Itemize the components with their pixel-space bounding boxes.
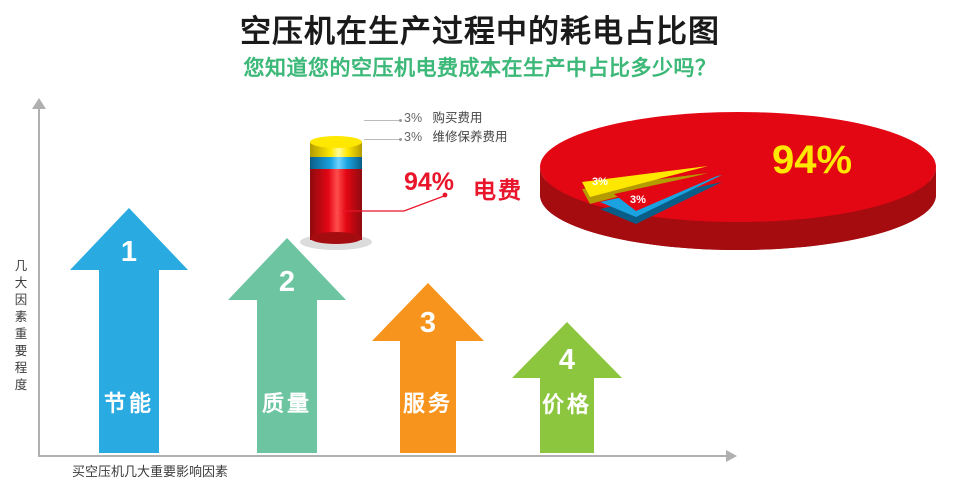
callout-leader-maintenance [364,139,400,140]
page-subtitle: 您知道您的空压机电费成本在生产中占比多少吗？ [0,52,960,82]
bar-arrow-price: 4 价格 [512,322,622,453]
callout-leader-purchase [364,120,400,121]
page-title: 空压机在生产过程中的耗电占比图 [0,6,960,51]
infographic-canvas: 空压机在生产过程中的耗电占比图 您知道您的空压机电费成本在生产中占比多少吗？ 几… [0,0,960,483]
bar-arrow-service: 3 服务 [372,283,484,453]
x-axis-line [38,455,728,457]
callout-maintenance: 3% 维修保养费用 [404,126,508,145]
cylinder-top-cap [310,136,362,148]
bar-rank-2: 2 [228,266,346,299]
bar-label-quality: 质量 [228,386,346,418]
callout-electricity-pct: 94% [404,168,454,197]
bar-rank-4: 4 [512,344,622,377]
pie-chart: 94% 3% 3% [540,112,940,252]
callout-purchase: 3% 购买费用 [404,107,483,126]
bar-rank-3: 3 [372,307,484,340]
pie-label-maintenance: 3% [630,194,646,206]
y-axis-arrow-icon [32,98,46,109]
bar-label-price: 价格 [512,387,622,419]
callout-dot-purchase [399,119,402,122]
callout-purchase-pct: 3% [404,111,422,125]
cylinder-bottom-cap [310,232,362,244]
x-axis-arrow-icon [726,450,737,462]
pie-label-purchase: 3% [592,176,608,188]
callout-electricity-name: 电费 [473,171,523,205]
bar-label-service: 服务 [372,386,484,418]
callout-maintenance-name: 维修保养费用 [433,130,508,144]
x-axis-label: 买空压机几大重要影响因素 [72,461,228,480]
pie-label-electricity: 94% [772,138,852,183]
y-axis-line [38,105,40,457]
callout-maintenance-pct: 3% [404,130,422,144]
callout-dot-maintenance [399,138,402,141]
bar-label-energy-saving: 节能 [70,386,188,418]
bar-rank-1: 1 [70,236,188,269]
bar-arrow-quality: 2 质量 [228,238,346,453]
bar-arrow-energy-saving: 1 节能 [70,208,188,453]
y-axis-label: 几大因素重要程度 [10,258,32,394]
callout-purchase-name: 购买费用 [433,111,483,125]
cylinder-segment-maintenance [310,156,362,169]
